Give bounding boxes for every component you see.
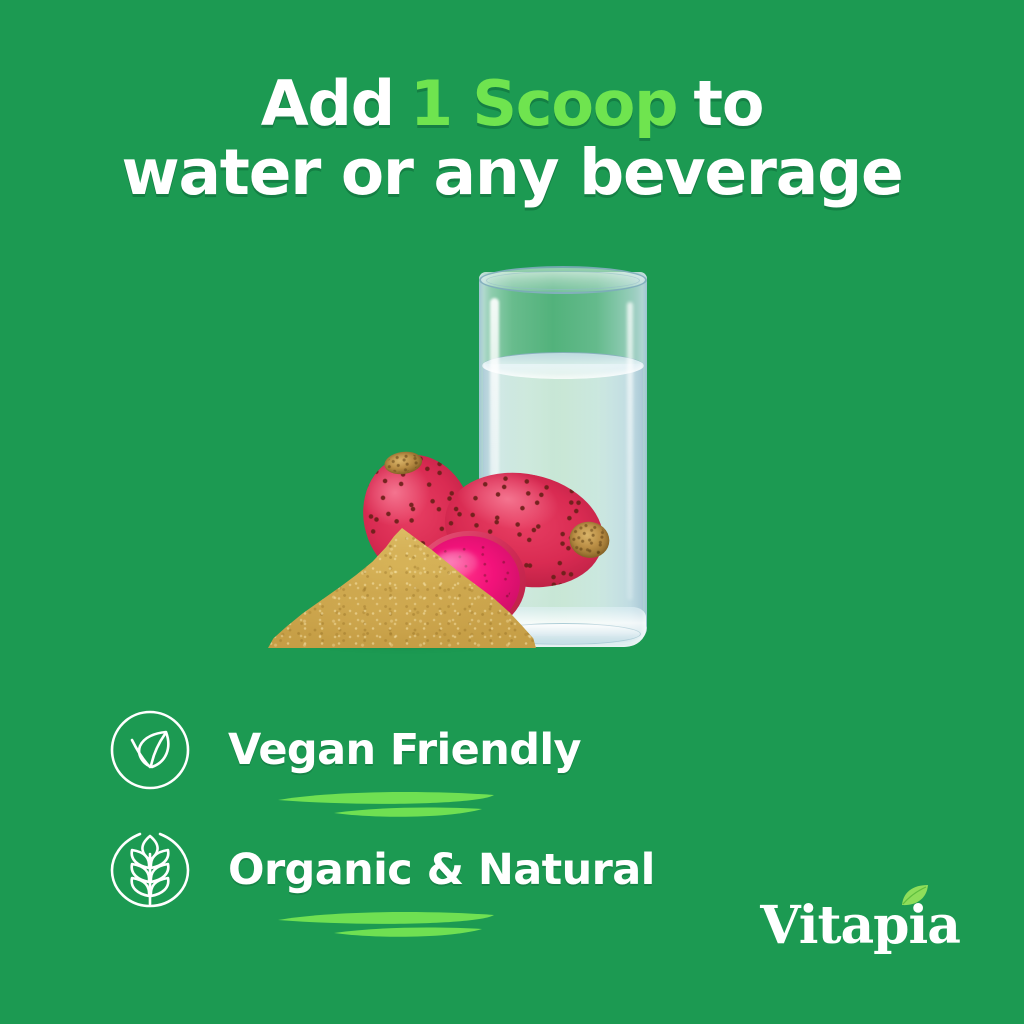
headline-line-1: Add1 Scoopto [0,72,1024,135]
brand-wordmark: Vitapia [760,900,960,952]
feature-label: Organic & Natural [228,845,655,895]
brush-underline [274,907,500,941]
brand-name: Vitapia [760,895,960,956]
headline: Add1 Scoopto water or any beverage [0,72,1024,205]
headline-prefix: Add [261,67,394,140]
glass-right-edge [642,278,647,628]
wheat-sprig-icon [104,824,196,916]
product-promo-poster: Add1 Scoopto water or any beverage [0,0,1024,1024]
feature-text-block: Organic & Natural [228,845,655,895]
leaf-icon [900,884,930,908]
powder-pile [268,528,536,648]
feature-vegan-friendly: Vegan Friendly [104,704,581,796]
product-image [256,258,768,678]
brush-underline [274,787,500,821]
powder-body [268,528,536,648]
glass-highlight-right [627,302,633,600]
glass-rim-inner [486,271,640,290]
feature-organic-natural: Organic & Natural [104,824,655,916]
feature-text-block: Vegan Friendly [228,725,581,775]
leaf-icon [104,704,196,796]
headline-line-2: water or any beverage [0,141,1024,205]
brand-logo: Vitapia [760,900,960,952]
headline-suffix: to [693,67,763,140]
glass-waterline [482,352,644,379]
headline-accent: 1 Scoop [410,67,677,140]
powder-texture [268,528,536,648]
feature-label: Vegan Friendly [228,725,581,775]
